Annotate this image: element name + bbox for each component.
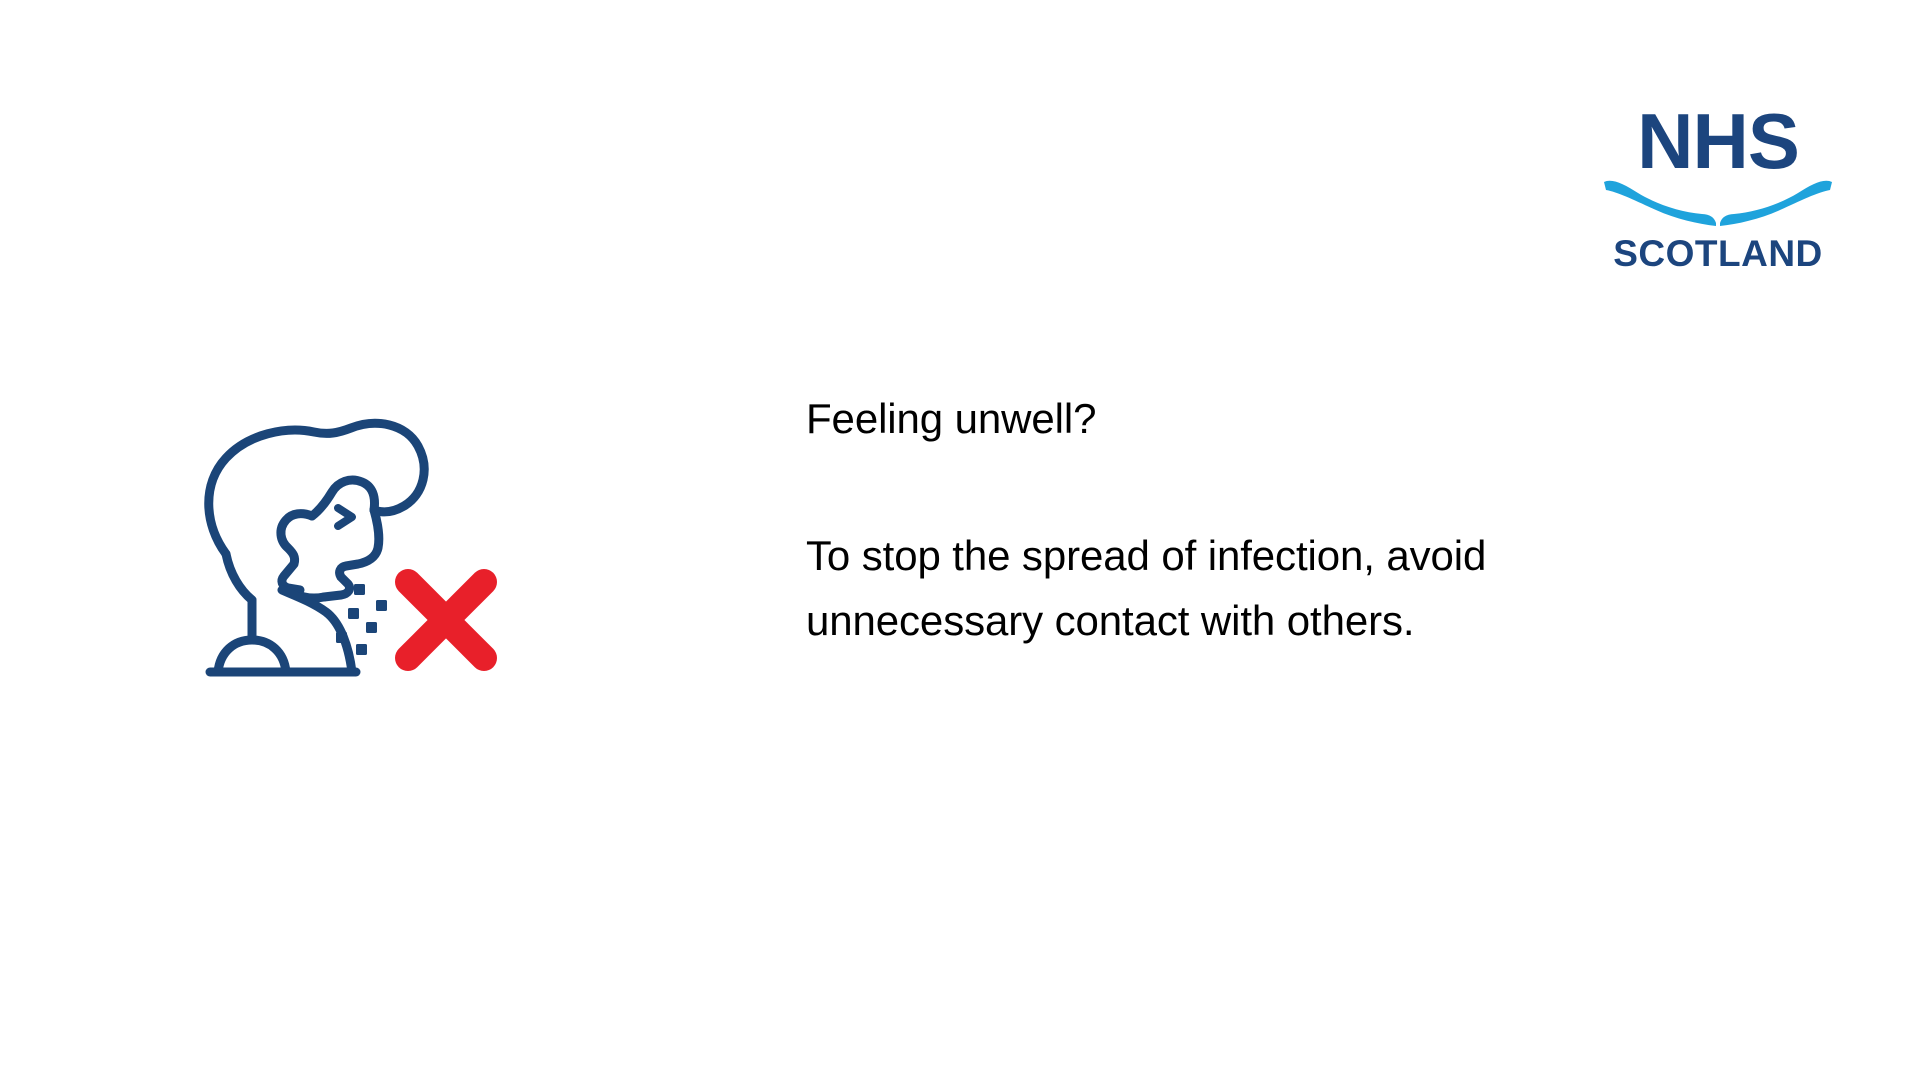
person-sneezing-prohibited-icon — [196, 396, 526, 696]
message-block: Feeling unwell? To stop the spread of in… — [806, 392, 1546, 653]
nhs-swoosh-icon — [1604, 181, 1832, 226]
body-text: To stop the spread of infection, avoid u… — [806, 523, 1526, 653]
person-in-profile-sneezing — [209, 423, 424, 672]
nhs-scotland-logo-graphic: NHS SCOTLAND — [1598, 90, 1838, 275]
nhs-wordmark: NHS — [1637, 97, 1799, 185]
headline-text: Feeling unwell? — [806, 392, 1546, 447]
scotland-wordmark: SCOTLAND — [1613, 233, 1823, 274]
red-cross-prohibition-mark — [408, 582, 484, 658]
poster-canvas: NHS SCOTLAND — [0, 0, 1920, 1080]
illustration-graphic — [196, 396, 526, 696]
nhs-scotland-logo: NHS SCOTLAND — [1598, 90, 1838, 275]
